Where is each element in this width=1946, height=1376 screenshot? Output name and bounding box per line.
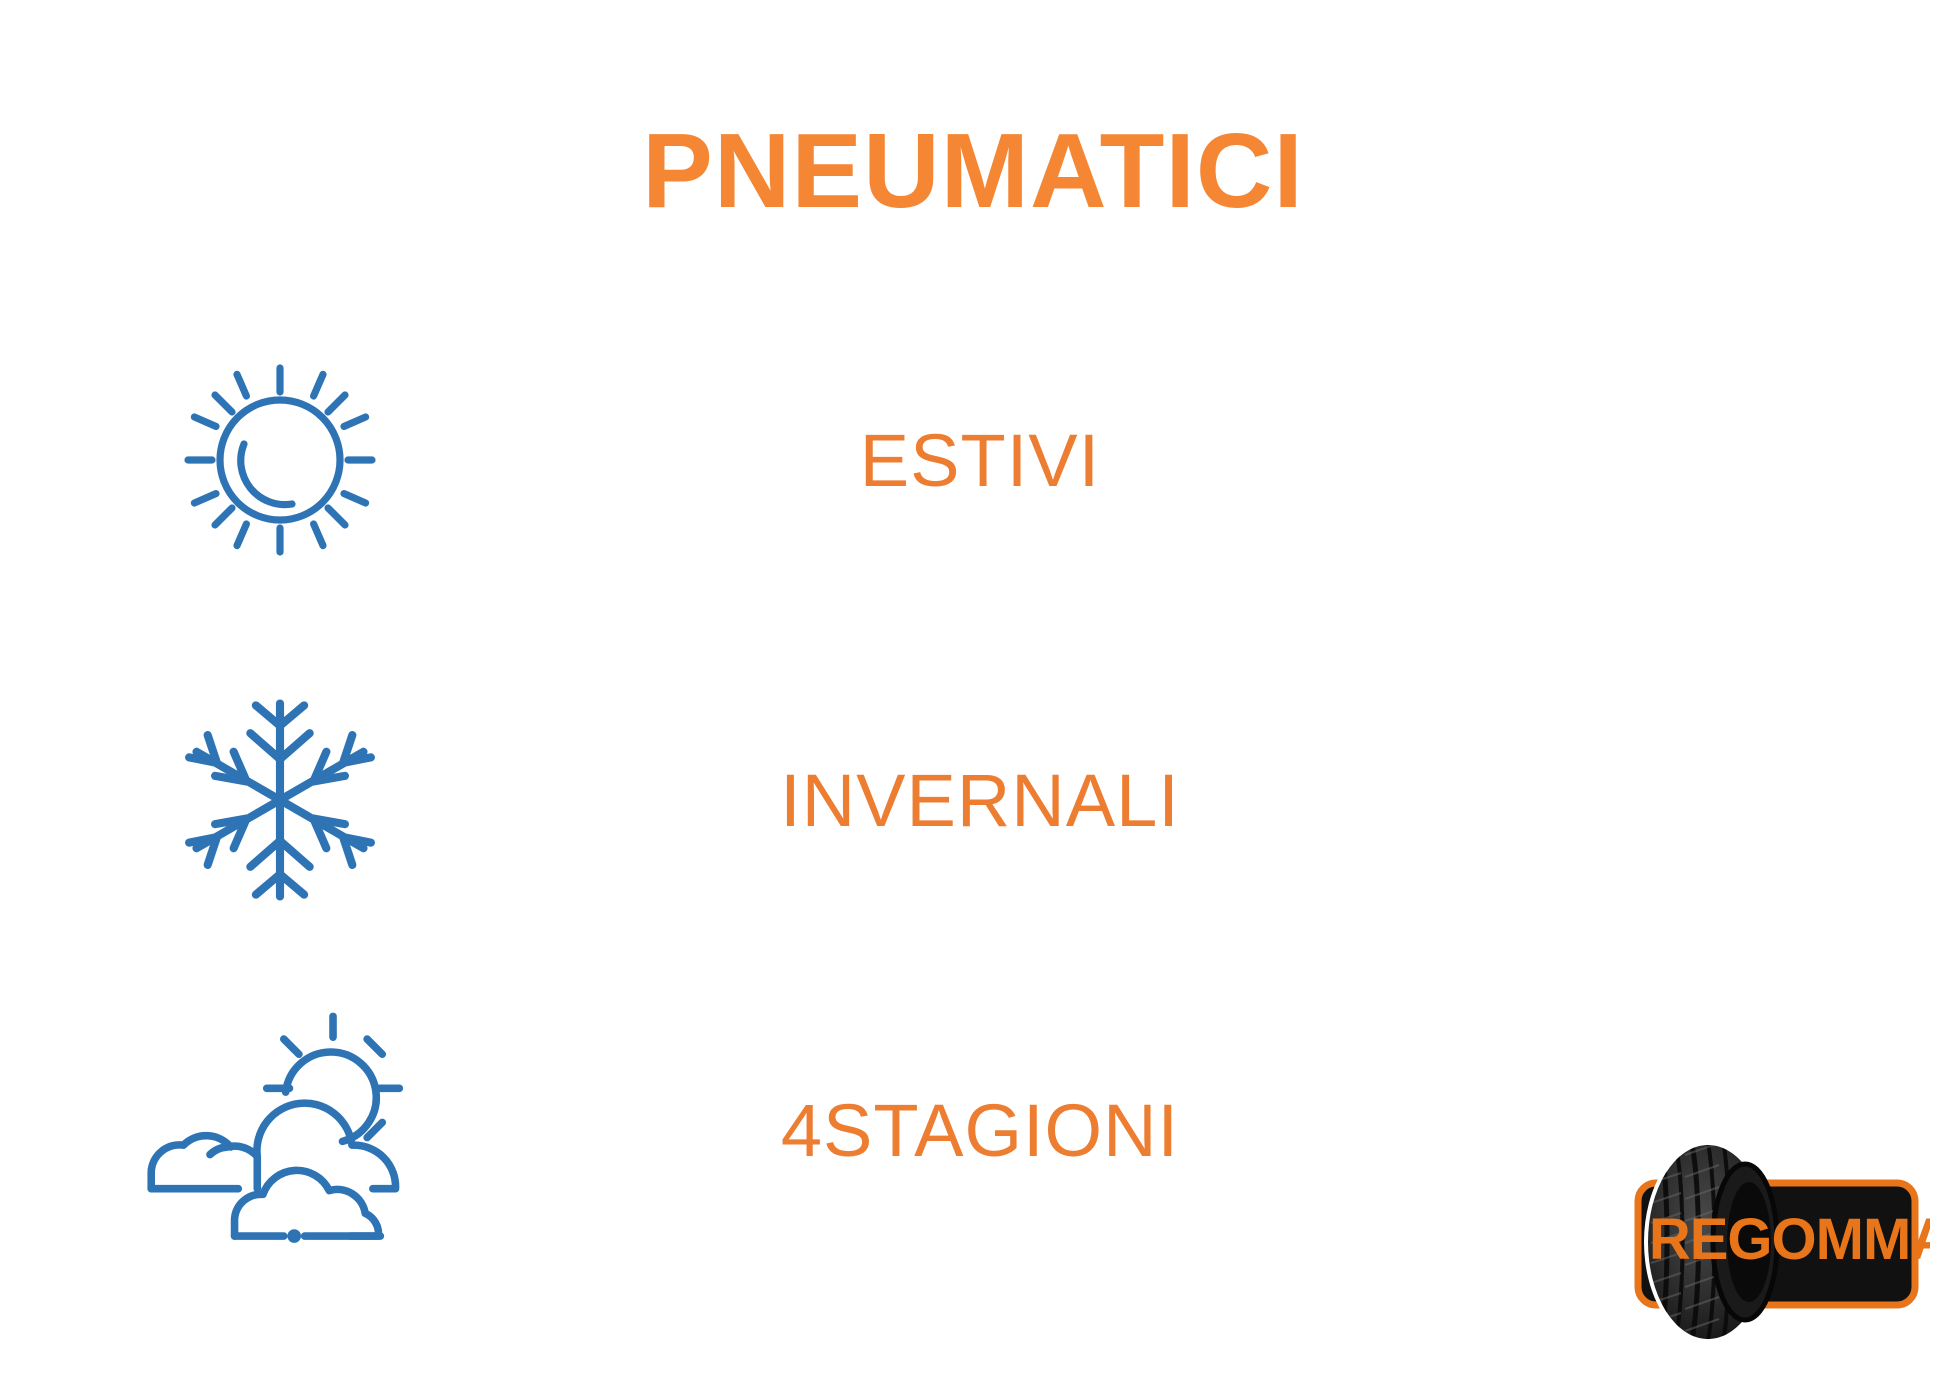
sun-behind-cloud-icon	[137, 1005, 423, 1255]
season-label-invernali: INVERNALI	[780, 758, 1180, 843]
label-cell-estivi: ESTIVI	[560, 330, 1400, 590]
label-cell-stagioni: 4STAGIONI	[560, 1000, 1400, 1260]
season-label-stagioni: 4STAGIONI	[781, 1088, 1179, 1173]
logo-wordmark: REGOMMA	[1649, 1207, 1930, 1272]
season-label-estivi: ESTIVI	[860, 418, 1100, 503]
icon-cell-stagioni	[0, 1000, 560, 1260]
section-row-estivi: ESTIVI	[0, 330, 1400, 590]
label-cell-invernali: INVERNALI	[560, 670, 1400, 930]
section-row-stagioni: 4STAGIONI	[0, 1000, 1400, 1260]
regomma-logo: REGOMMA	[1615, 1125, 1930, 1360]
sun-icon	[156, 336, 404, 584]
section-row-invernali: INVERNALI	[0, 670, 1400, 930]
icon-cell-invernali	[0, 670, 560, 930]
regomma-logo-svg: REGOMMA	[1615, 1125, 1930, 1360]
poster-canvas: PNEUMATICI	[0, 0, 1946, 1376]
page-title: PNEUMATICI	[0, 118, 1946, 224]
snowflake-icon	[165, 676, 395, 924]
icon-cell-estivi	[0, 330, 560, 590]
